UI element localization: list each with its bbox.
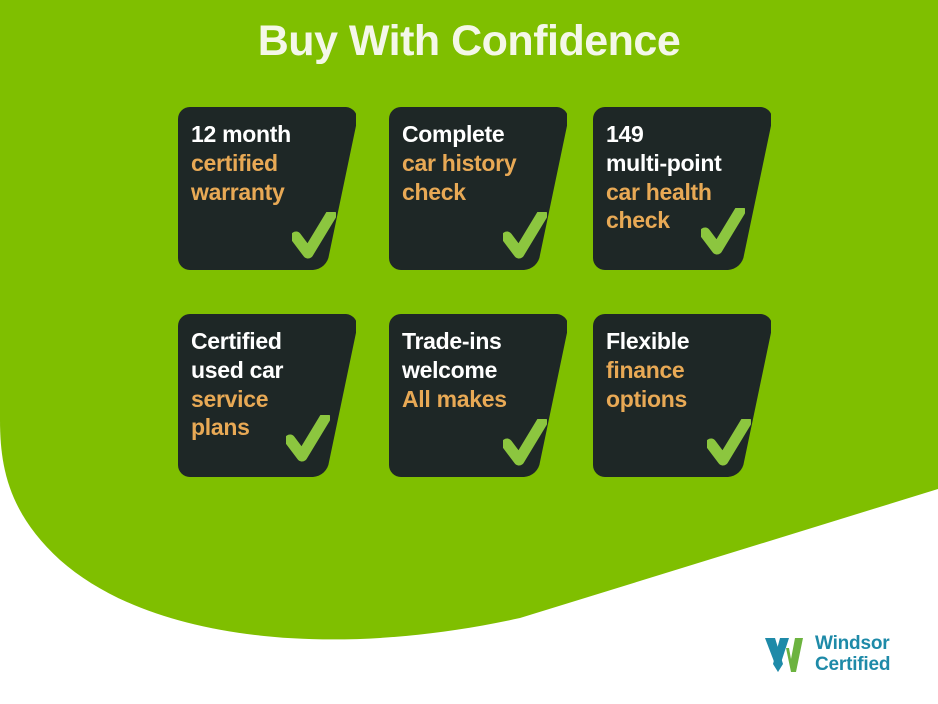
benefit-card-service-plans[interactable]: Certified used car service plans — [178, 314, 356, 477]
card-text: Complete car history check — [402, 120, 552, 206]
promo-banner: Buy With Confidence 12 month certified w… — [0, 0, 938, 704]
card-line: service — [191, 385, 341, 414]
card-line: welcome — [402, 356, 552, 385]
card-line: Certified — [191, 327, 341, 356]
card-line: Flexible — [606, 327, 756, 356]
check-icon — [503, 212, 547, 262]
check-icon — [292, 212, 336, 262]
card-line: finance — [606, 356, 756, 385]
check-icon — [503, 419, 547, 469]
benefit-card-certified-warranty[interactable]: 12 month certified warranty — [178, 107, 356, 270]
card-text: 12 month certified warranty — [191, 120, 341, 206]
brand-name: Windsor Certified — [815, 633, 890, 676]
brand-name-line1: Windsor — [815, 633, 890, 654]
card-line: car history — [402, 149, 552, 178]
benefit-card-car-history-check[interactable]: Complete car history check — [389, 107, 567, 270]
check-icon — [707, 419, 751, 469]
card-line: Complete — [402, 120, 552, 149]
windsor-w-mark-icon — [762, 634, 806, 674]
card-line: check — [402, 178, 552, 207]
benefit-card-flexible-finance[interactable]: Flexible finance options — [593, 314, 771, 477]
card-text: Trade-ins welcome All makes — [402, 327, 552, 413]
benefit-card-multi-point-check[interactable]: 149 multi-point car health check — [593, 107, 771, 270]
card-text: Flexible finance options — [606, 327, 756, 413]
card-line: warranty — [191, 178, 341, 207]
card-line: car health — [606, 178, 756, 207]
card-line: 12 month — [191, 120, 341, 149]
card-line: multi-point — [606, 149, 756, 178]
card-line: options — [606, 385, 756, 414]
check-icon — [701, 208, 745, 258]
card-line: used car — [191, 356, 341, 385]
brand-logo[interactable]: Windsor Certified — [762, 628, 932, 680]
card-line: Trade-ins — [402, 327, 552, 356]
card-line: certified — [191, 149, 341, 178]
benefit-card-trade-ins[interactable]: Trade-ins welcome All makes — [389, 314, 567, 477]
benefits-grid: 12 month certified warranty Complete car… — [178, 107, 778, 477]
page-title: Buy With Confidence — [0, 18, 938, 65]
card-line: All makes — [402, 385, 552, 414]
card-line: 149 — [606, 120, 756, 149]
brand-name-line2: Certified — [815, 654, 890, 675]
check-icon — [286, 415, 330, 465]
